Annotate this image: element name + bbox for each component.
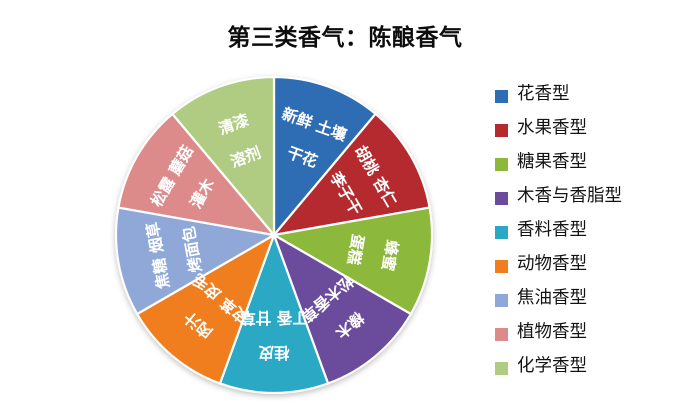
legend-item[interactable]: 化学香型 xyxy=(495,350,685,384)
chart-legend: 花香型水果香型糖果香型木香与香脂型香料香型动物香型焦油香型植物香型化学香型 xyxy=(495,78,685,384)
legend-item-label: 动物香型 xyxy=(517,256,587,274)
pie-slice-label: 桂皮 xyxy=(258,343,291,362)
legend-item[interactable]: 香料香型 xyxy=(495,214,685,248)
legend-color-swatch xyxy=(495,90,508,103)
legend-color-swatch xyxy=(495,124,508,137)
legend-item-label: 糖果香型 xyxy=(517,154,587,172)
legend-color-swatch xyxy=(495,226,508,239)
legend-item[interactable]: 水果香型 xyxy=(495,112,685,146)
legend-color-swatch xyxy=(495,294,508,307)
pie-chart-svg: 新鲜 土壤干花胡桃 杏仁李子干蜂蜜蛋糕橡木松木香草桂皮丁香 甘草肉汁皮革 皮毛焦… xyxy=(113,74,435,396)
page-title: 第三类香气：陈酿香气 xyxy=(0,18,690,52)
legend-item[interactable]: 动物香型 xyxy=(495,248,685,282)
legend-item[interactable]: 花香型 xyxy=(495,78,685,112)
legend-item[interactable]: 木香与香脂型 xyxy=(495,180,685,214)
legend-color-swatch xyxy=(495,362,508,375)
legend-item-label: 木香与香脂型 xyxy=(517,188,622,206)
legend-item-label: 花香型 xyxy=(517,86,570,104)
legend-item-label: 香料香型 xyxy=(517,222,587,240)
legend-item-label: 化学香型 xyxy=(517,358,587,376)
legend-color-swatch xyxy=(495,192,508,205)
legend-item-label: 焦油香型 xyxy=(517,290,587,308)
legend-item[interactable]: 植物香型 xyxy=(495,316,685,350)
legend-color-swatch xyxy=(495,260,508,273)
legend-item-label: 水果香型 xyxy=(517,120,587,138)
legend-color-swatch xyxy=(495,328,508,341)
legend-item[interactable]: 焦油香型 xyxy=(495,282,685,316)
legend-item[interactable]: 糖果香型 xyxy=(495,146,685,180)
legend-item-label: 植物香型 xyxy=(517,324,587,342)
legend-color-swatch xyxy=(495,158,508,171)
pie-chart: 新鲜 土壤干花胡桃 杏仁李子干蜂蜜蛋糕橡木松木香草桂皮丁香 甘草肉汁皮革 皮毛焦… xyxy=(113,74,435,396)
